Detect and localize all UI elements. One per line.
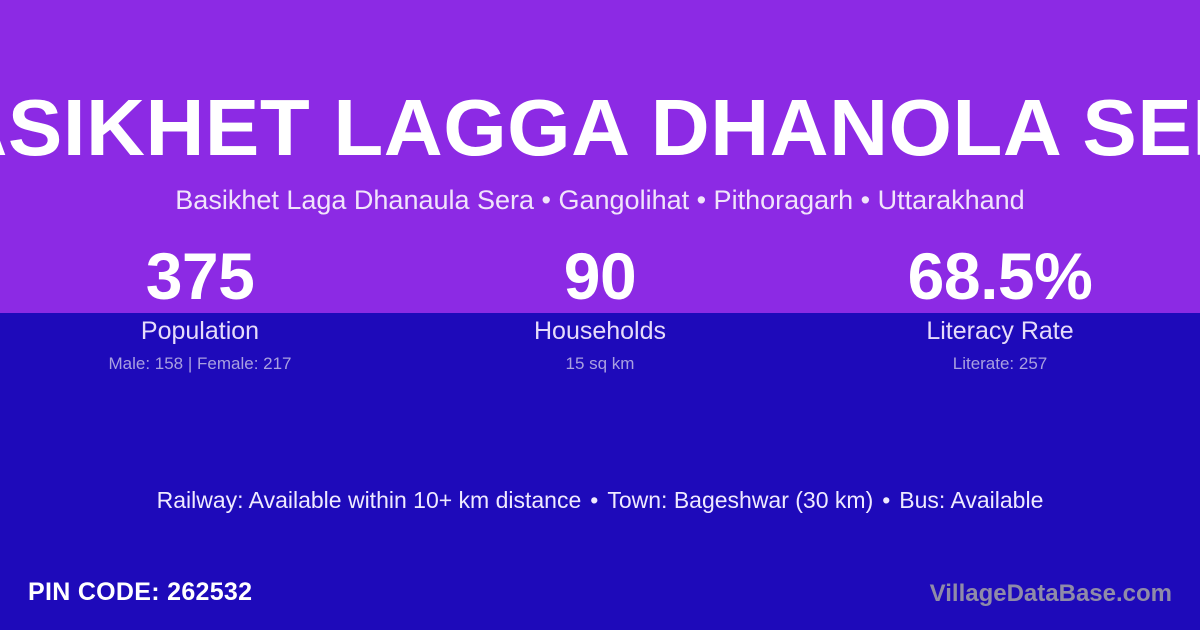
stat-households-detail: 15 sq km: [400, 353, 800, 375]
amenity-railway: Railway: Available within 10+ km distanc…: [157, 487, 582, 513]
stat-literacy-rate-label: Literacy Rate: [800, 316, 1200, 346]
village-breadcrumb: Basikhet Laga Dhanaula Sera • Gangolihat…: [0, 183, 1200, 217]
brand-watermark: VillageDataBase.com: [930, 577, 1172, 611]
amenity-bus: Bus: Available: [899, 487, 1043, 513]
stat-households-label: Households: [400, 316, 800, 346]
stat-literacy-rate-value: 68.5%: [800, 240, 1200, 313]
pin-code: PIN CODE: 262532: [28, 575, 252, 609]
stat-population-value: 375: [0, 240, 400, 313]
stat-households: 90 Households 15 sq km: [400, 240, 800, 375]
village-info-card: BASIKHET LAGGA DHANOLA SERA Basikhet Lag…: [0, 0, 1200, 630]
amenity-separator-1: •: [581, 487, 607, 513]
amenities-line: Railway: Available within 10+ km distanc…: [0, 484, 1200, 516]
amenity-town: Town: Bageshwar (30 km): [607, 487, 873, 513]
stat-population-label: Population: [0, 316, 400, 346]
amenity-separator-2: •: [873, 487, 899, 513]
stat-literacy-rate: 68.5% Literacy Rate Literate: 257: [800, 240, 1200, 375]
stat-literacy-rate-detail: Literate: 257: [800, 353, 1200, 375]
stat-population: 375 Population Male: 158 | Female: 217: [0, 240, 400, 375]
stat-households-value: 90: [400, 240, 800, 313]
stat-population-detail: Male: 158 | Female: 217: [0, 353, 400, 375]
stats-row: 375 Population Male: 158 | Female: 217 9…: [0, 240, 1200, 375]
